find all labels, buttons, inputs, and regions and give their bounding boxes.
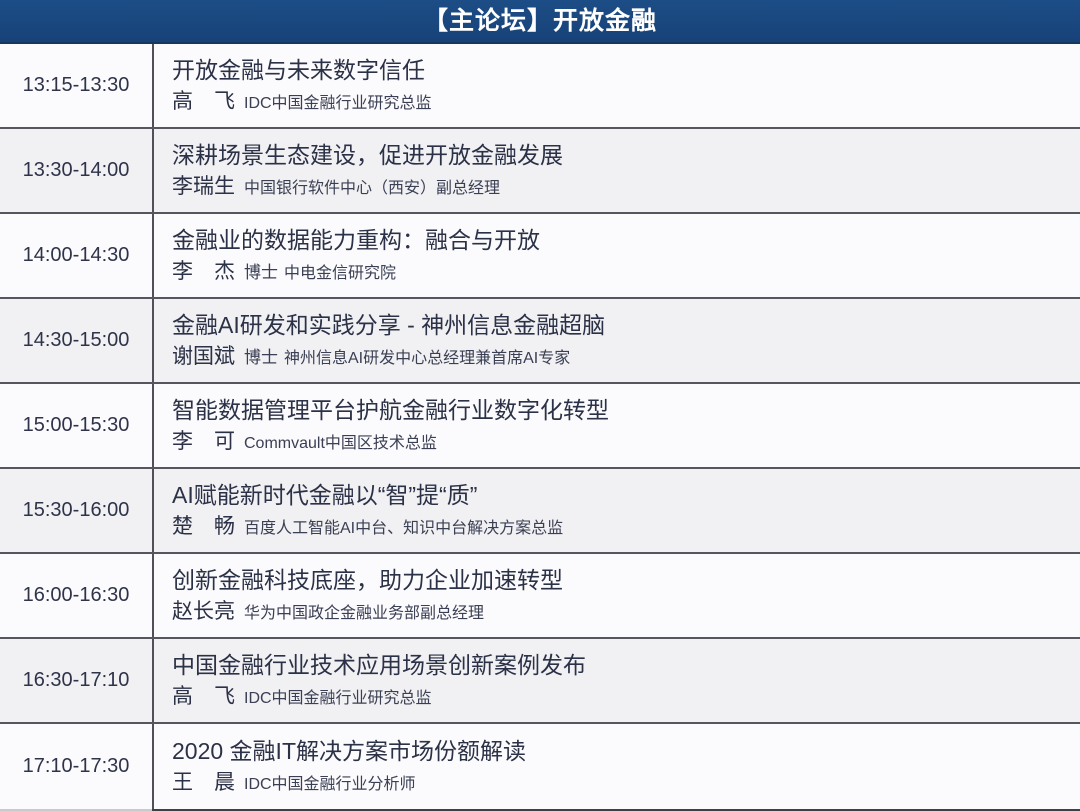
session-time: 15:00-15:30 (23, 414, 130, 437)
session-time-cell: 17:10-17:30 (0, 724, 152, 809)
speaker-organization: 华为中国政企金融业务部副总经理 (244, 604, 484, 625)
forum-header-banner: 【主论坛】开放金融 (0, 0, 1080, 44)
speaker-line: 高 飞IDC中国金融行业研究总监 (172, 683, 1080, 710)
session-row[interactable]: 13:30-14:00深耕场景生态建设，促进开放金融发展李瑞生中国银行软件中心（… (0, 129, 1080, 214)
speaker-organization: IDC中国金融行业研究总监 (244, 94, 432, 115)
speaker-organization: 神州信息AI研发中心总经理兼首席AI专家 (284, 349, 570, 370)
session-time: 14:30-15:00 (23, 329, 130, 352)
session-info-cell: 智能数据管理平台护航金融行业数字化转型李 可Commvault中国区技术总监 (154, 396, 1080, 455)
session-time: 13:15-13:30 (23, 74, 130, 97)
session-time-cell: 13:15-13:30 (0, 44, 152, 127)
session-info-cell: 金融AI研发和实践分享 - 神州信息金融超脑谢国斌博士神州信息AI研发中心总经理… (154, 311, 1080, 370)
speaker-organization: Commvault中国区技术总监 (244, 434, 437, 455)
speaker-name: 高 飞 (172, 683, 235, 710)
session-time-cell: 14:30-15:00 (0, 299, 152, 382)
speaker-line: 楚 畅百度人工智能AI中台、知识中台解决方案总监 (172, 513, 1080, 540)
session-row[interactable]: 13:15-13:30开放金融与未来数字信任高 飞IDC中国金融行业研究总监 (0, 44, 1080, 129)
speaker-organization: 中国银行软件中心（西安）副总经理 (244, 179, 500, 200)
session-row[interactable]: 16:00-16:30创新金融科技底座，助力企业加速转型赵长亮华为中国政企金融业… (0, 554, 1080, 639)
session-title: 智能数据管理平台护航金融行业数字化转型 (172, 396, 1080, 425)
session-title: 2020 金融IT解决方案市场份额解读 (172, 737, 1080, 766)
session-info-cell: AI赋能新时代金融以“智”提“质”楚 畅百度人工智能AI中台、知识中台解决方案总… (154, 481, 1080, 540)
session-title: 中国金融行业技术应用场景创新案例发布 (172, 651, 1080, 680)
speaker-name: 赵长亮 (172, 598, 235, 625)
session-row[interactable]: 14:00-14:30金融业的数据能力重构：融合与开放李 杰博士中电金信研究院 (0, 214, 1080, 299)
session-title: 创新金融科技底座，助力企业加速转型 (172, 566, 1080, 595)
speaker-organization: 中电金信研究院 (284, 264, 396, 285)
session-time-cell: 16:30-17:10 (0, 639, 152, 722)
session-time: 16:30-17:10 (23, 669, 130, 692)
speaker-line: 赵长亮华为中国政企金融业务部副总经理 (172, 598, 1080, 625)
speaker-name: 李 可 (172, 428, 235, 455)
session-time-cell: 13:30-14:00 (0, 129, 152, 212)
speaker-line: 李 可Commvault中国区技术总监 (172, 428, 1080, 455)
session-row[interactable]: 17:10-17:302020 金融IT解决方案市场份额解读王 晨IDC中国金融… (0, 724, 1080, 809)
session-info-cell: 深耕场景生态建设，促进开放金融发展李瑞生中国银行软件中心（西安）副总经理 (154, 141, 1080, 200)
session-time: 13:30-14:00 (23, 159, 130, 182)
session-time-cell: 14:00-14:30 (0, 214, 152, 297)
speaker-organization: 百度人工智能AI中台、知识中台解决方案总监 (244, 519, 563, 540)
session-info-cell: 开放金融与未来数字信任高 飞IDC中国金融行业研究总监 (154, 56, 1080, 115)
speaker-name: 楚 畅 (172, 513, 235, 540)
speaker-degree: 博士 (244, 262, 278, 284)
session-time: 16:00-16:30 (23, 584, 130, 607)
session-row[interactable]: 15:00-15:30智能数据管理平台护航金融行业数字化转型李 可Commvau… (0, 384, 1080, 469)
speaker-name: 高 飞 (172, 88, 235, 115)
session-info-cell: 2020 金融IT解决方案市场份额解读王 晨IDC中国金融行业分析师 (154, 737, 1080, 796)
session-info-cell: 金融业的数据能力重构：融合与开放李 杰博士中电金信研究院 (154, 226, 1080, 285)
speaker-line: 李瑞生中国银行软件中心（西安）副总经理 (172, 173, 1080, 200)
speaker-line: 谢国斌博士神州信息AI研发中心总经理兼首席AI专家 (172, 343, 1080, 370)
session-time: 14:00-14:30 (23, 244, 130, 267)
session-title: 金融AI研发和实践分享 - 神州信息金融超脑 (172, 311, 1080, 340)
session-title: 深耕场景生态建设，促进开放金融发展 (172, 141, 1080, 170)
session-row[interactable]: 15:30-16:00AI赋能新时代金融以“智”提“质”楚 畅百度人工智能AI中… (0, 469, 1080, 554)
speaker-organization: IDC中国金融行业研究总监 (244, 689, 432, 710)
session-time-cell: 15:30-16:00 (0, 469, 152, 552)
session-row[interactable]: 14:30-15:00金融AI研发和实践分享 - 神州信息金融超脑谢国斌博士神州… (0, 299, 1080, 384)
session-time: 15:30-16:00 (23, 499, 130, 522)
speaker-degree: 博士 (244, 347, 278, 369)
speaker-line: 李 杰博士中电金信研究院 (172, 258, 1080, 285)
session-list: 13:15-13:30开放金融与未来数字信任高 飞IDC中国金融行业研究总监13… (0, 44, 1080, 809)
session-title: 金融业的数据能力重构：融合与开放 (172, 226, 1080, 255)
page-title: 【主论坛】开放金融 (423, 9, 657, 34)
speaker-organization: IDC中国金融行业分析师 (244, 775, 416, 796)
speaker-line: 王 晨IDC中国金融行业分析师 (172, 769, 1080, 796)
speaker-name: 谢国斌 (172, 343, 235, 370)
speaker-line: 高 飞IDC中国金融行业研究总监 (172, 88, 1080, 115)
session-time-cell: 16:00-16:30 (0, 554, 152, 637)
session-time-cell: 15:00-15:30 (0, 384, 152, 467)
session-time: 17:10-17:30 (23, 755, 130, 778)
speaker-name: 李 杰 (172, 258, 235, 285)
session-info-cell: 中国金融行业技术应用场景创新案例发布高 飞IDC中国金融行业研究总监 (154, 651, 1080, 710)
agenda-page: 【主论坛】开放金融 13:15-13:30开放金融与未来数字信任高 飞IDC中国… (0, 0, 1080, 811)
session-info-cell: 创新金融科技底座，助力企业加速转型赵长亮华为中国政企金融业务部副总经理 (154, 566, 1080, 625)
speaker-name: 李瑞生 (172, 173, 235, 200)
speaker-name: 王 晨 (172, 769, 235, 796)
session-row[interactable]: 16:30-17:10中国金融行业技术应用场景创新案例发布高 飞IDC中国金融行… (0, 639, 1080, 724)
session-title: AI赋能新时代金融以“智”提“质” (172, 481, 1080, 510)
session-title: 开放金融与未来数字信任 (172, 56, 1080, 85)
